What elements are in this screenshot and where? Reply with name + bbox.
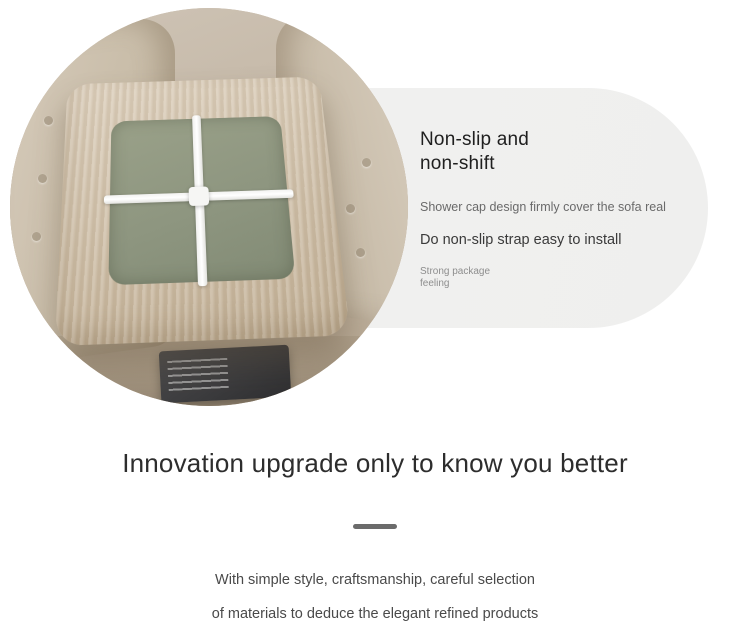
section-title: Innovation upgrade only to know you bett…: [0, 448, 750, 479]
lower-section: Innovation upgrade only to know you bett…: [0, 420, 750, 634]
hero-headline-line1: Non-slip and: [420, 128, 700, 152]
title-divider: [353, 524, 397, 529]
hero-subtext-b: Do non-slip strap easy to install: [420, 232, 700, 248]
product-photo-scene: [10, 8, 408, 406]
packaging-tag-label: [167, 358, 228, 391]
product-photo-circle: [10, 8, 408, 406]
tufting-dot: [346, 204, 355, 213]
tufting-dot: [32, 232, 41, 241]
hero-subtext-c-line2: feeling: [420, 278, 530, 290]
hero-copy: Non-slip and non-shift Shower cap design…: [420, 128, 700, 290]
footer-line-1: With simple style, craftsmanship, carefu…: [0, 572, 750, 588]
strap-center-knot: [189, 186, 210, 206]
inner-green-pad: [108, 116, 295, 285]
packaging-tag: [159, 345, 292, 404]
hero-subtext-c: Strong package feeling: [420, 266, 530, 290]
tufting-dot: [362, 158, 371, 167]
hero-subtext-a: Shower cap design firmly cover the sofa …: [420, 200, 700, 214]
seat-cushion-cover: [55, 77, 351, 346]
hero-headline: Non-slip and non-shift: [420, 128, 700, 176]
hero-headline-line2: non-shift: [420, 152, 700, 176]
tufting-dot: [356, 248, 365, 257]
tufting-dot: [38, 174, 47, 183]
footer-line-2: of materials to deduce the elegant refin…: [0, 606, 750, 622]
hero-subtext-c-line1: Strong package: [420, 266, 530, 278]
tufting-dot: [44, 116, 53, 125]
hero-section: Non-slip and non-shift Shower cap design…: [0, 0, 750, 420]
